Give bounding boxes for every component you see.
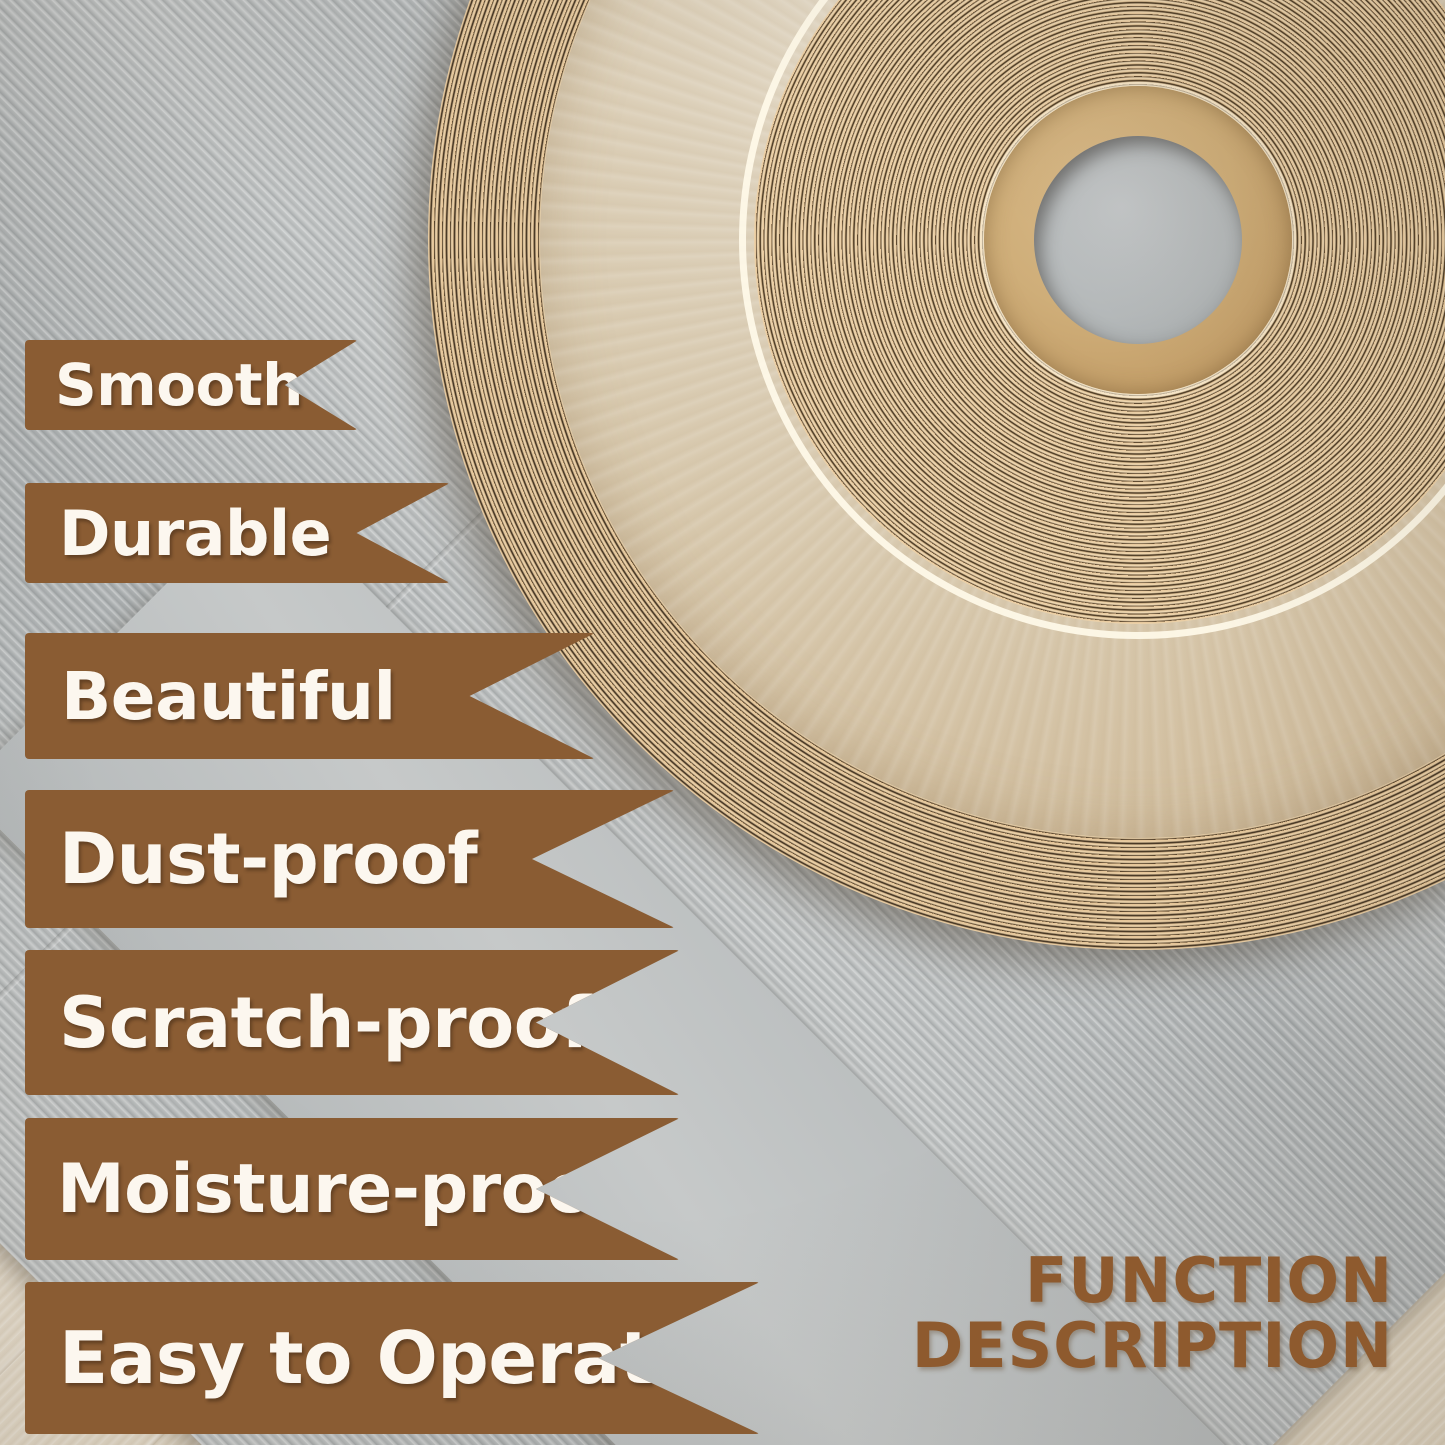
feature-label: Scratch-proof [25,982,591,1064]
banner-ribbon-shape: Easy to Operate [25,1282,760,1434]
feature-banner-scratch-proof[interactable]: Scratch-proof [25,950,680,1095]
feature-label: Smooth [25,351,303,419]
banner-ribbon-shape: Scratch-proof [25,950,680,1095]
feature-banner-moisture-proof[interactable]: Moisture-proof [25,1118,680,1260]
feature-label: Moisture-proof [25,1150,622,1229]
banner-ribbon-shape: Moisture-proof [25,1118,680,1260]
feature-banner-beautiful[interactable]: Beautiful [25,633,595,759]
product-feature-image: Smooth Durable Beautiful Dust-proof Scra [0,0,1445,1445]
feature-banner-dust-proof[interactable]: Dust-proof [25,790,675,928]
feature-banner-easy-to-operate[interactable]: Easy to Operate [25,1282,760,1434]
banner-ribbon-shape: Beautiful [25,633,595,759]
section-heading-line-1: FUNCTION [912,1248,1393,1314]
banner-ribbon-shape: Dust-proof [25,790,675,928]
feature-banner-durable[interactable]: Durable [25,483,450,583]
feature-label: Beautiful [25,658,396,735]
feature-label: Durable [25,497,331,570]
section-heading: FUNCTION DESCRIPTION [912,1248,1393,1379]
feature-banner-smooth[interactable]: Smooth [25,340,358,430]
banner-ribbon-shape: Durable [25,483,450,583]
feature-label: Easy to Operate [25,1316,702,1400]
section-heading-line-2: DESCRIPTION [912,1313,1393,1379]
banner-ribbon-shape: Smooth [25,340,358,430]
feature-label: Dust-proof [25,818,477,900]
